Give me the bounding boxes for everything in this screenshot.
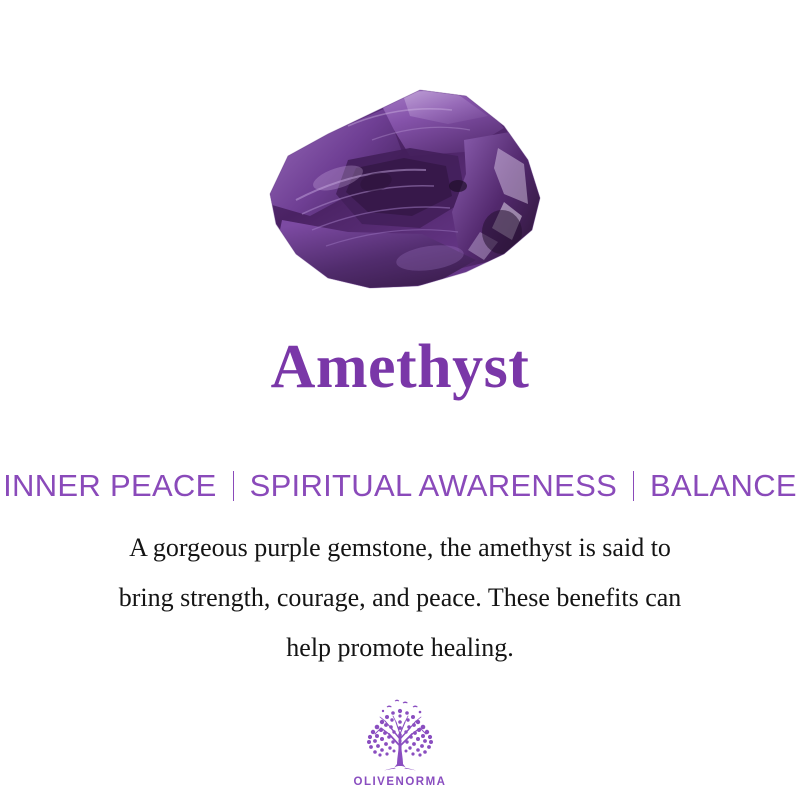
- gem-facets: [252, 82, 548, 294]
- description-line-2: bring strength, courage, and peace. Thes…: [50, 573, 750, 623]
- brand-logo: OLIVENORMA: [0, 698, 800, 788]
- keyword-balance: BALANCE: [650, 470, 797, 501]
- amethyst-info-card: Amethyst INNER PEACE SPIRITUAL AWARENESS…: [0, 0, 800, 800]
- amethyst-crystal-image: [252, 82, 548, 294]
- tree-foliage: [367, 700, 433, 770]
- description-line-3: help promote healing.: [50, 623, 750, 673]
- page-title: Amethyst: [271, 336, 530, 398]
- keyword-inner-peace: INNER PEACE: [3, 470, 216, 501]
- keyword-list: INNER PEACE SPIRITUAL AWARENESS BALANCE: [3, 470, 797, 501]
- keyword-separator-1: [233, 471, 234, 501]
- brand-name: OLIVENORMA: [354, 776, 447, 788]
- amethyst-crystal-graphic: [252, 82, 548, 294]
- keyword-spiritual-awareness: SPIRITUAL AWARENESS: [250, 470, 617, 501]
- description-text: A gorgeous purple gemstone, the amethyst…: [50, 523, 750, 673]
- description-line-1: A gorgeous purple gemstone, the amethyst…: [50, 523, 750, 573]
- hero-image-area: [0, 0, 800, 310]
- tree-icon: [356, 698, 444, 774]
- keyword-separator-2: [633, 471, 634, 501]
